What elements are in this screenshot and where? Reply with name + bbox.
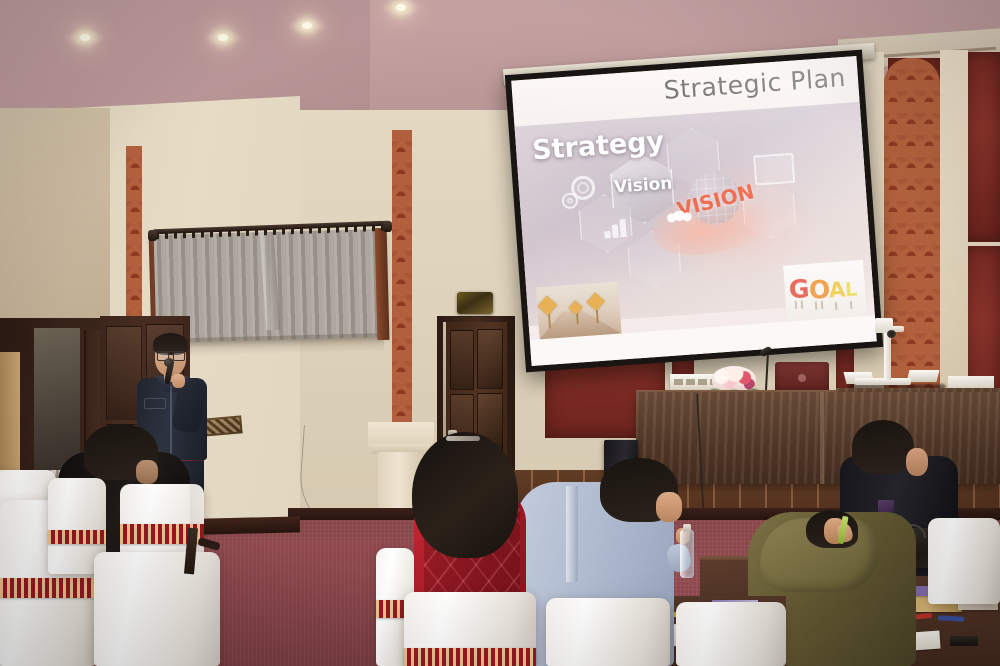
road-sign-image bbox=[536, 282, 622, 340]
attendee-blue-shirt-face bbox=[656, 492, 682, 522]
shirt-pleat bbox=[566, 486, 578, 582]
microphone-head-icon bbox=[164, 358, 174, 367]
document-camera-light-panel bbox=[907, 370, 940, 382]
wall-panel-red bbox=[966, 52, 1000, 242]
goal-leg bbox=[850, 301, 853, 309]
attendee-black-jacket-face bbox=[906, 448, 928, 476]
far-left-wall bbox=[0, 108, 110, 338]
downlight-icon bbox=[302, 22, 312, 29]
attendee-black-jacket-hair bbox=[852, 420, 914, 474]
curtain-finial bbox=[148, 230, 157, 241]
presenter-hand bbox=[172, 374, 185, 388]
road-sign-icon bbox=[587, 293, 605, 311]
attendee-front-left-face bbox=[136, 460, 158, 484]
eyeglass-lens bbox=[173, 352, 185, 361]
door-panel bbox=[450, 330, 474, 390]
bottle-cap bbox=[683, 524, 691, 532]
chair-cover[interactable] bbox=[546, 598, 670, 666]
water-bottle bbox=[680, 530, 694, 578]
goal-letters-image: G O A L bbox=[783, 260, 867, 322]
door-panel bbox=[477, 329, 503, 389]
presenter-pocket bbox=[144, 398, 166, 409]
chair-cover[interactable] bbox=[676, 602, 786, 666]
decorative-pilaster bbox=[126, 146, 142, 322]
name-placard-text bbox=[674, 379, 714, 385]
goal-leg bbox=[835, 302, 838, 310]
presentation-slide: Strategic Plan Vision VISION Strategy bbox=[511, 56, 877, 366]
eyeglass-case bbox=[950, 636, 978, 646]
chair-sash bbox=[48, 530, 106, 544]
curtain-finial bbox=[383, 221, 392, 232]
road-sign-icon bbox=[538, 296, 558, 316]
jacket-emblem bbox=[878, 500, 894, 512]
downlight-icon bbox=[218, 34, 228, 41]
chair-sash bbox=[404, 648, 536, 666]
chair-sash bbox=[0, 578, 96, 598]
wall-plaque bbox=[457, 292, 493, 314]
hair-clip bbox=[446, 436, 480, 441]
people-icon bbox=[666, 210, 693, 230]
document-camera-base bbox=[855, 378, 911, 385]
downlight-icon bbox=[80, 34, 90, 41]
goal-letter: G bbox=[788, 274, 811, 304]
slide-title: Strategic Plan bbox=[663, 63, 847, 105]
chair-cover[interactable] bbox=[94, 552, 220, 666]
attendee-red-jacket-hair bbox=[412, 432, 518, 558]
goal-letter: L bbox=[844, 279, 858, 302]
bar-chart-icon bbox=[603, 219, 628, 239]
decorative-pilaster bbox=[392, 130, 412, 422]
camera-lens-icon bbox=[887, 330, 896, 338]
table-skirt-fold bbox=[820, 392, 824, 484]
document-icon bbox=[753, 153, 795, 186]
seminar-room-photo: Strategic Plan Vision VISION Strategy bbox=[0, 0, 1000, 666]
downlight-icon bbox=[396, 4, 406, 11]
chair-cover[interactable] bbox=[928, 518, 1000, 604]
laptop-logo bbox=[798, 374, 806, 382]
projection-screen[interactable]: Strategic Plan Vision VISION Strategy bbox=[511, 56, 877, 366]
vision-hex-label: Vision bbox=[613, 174, 672, 198]
